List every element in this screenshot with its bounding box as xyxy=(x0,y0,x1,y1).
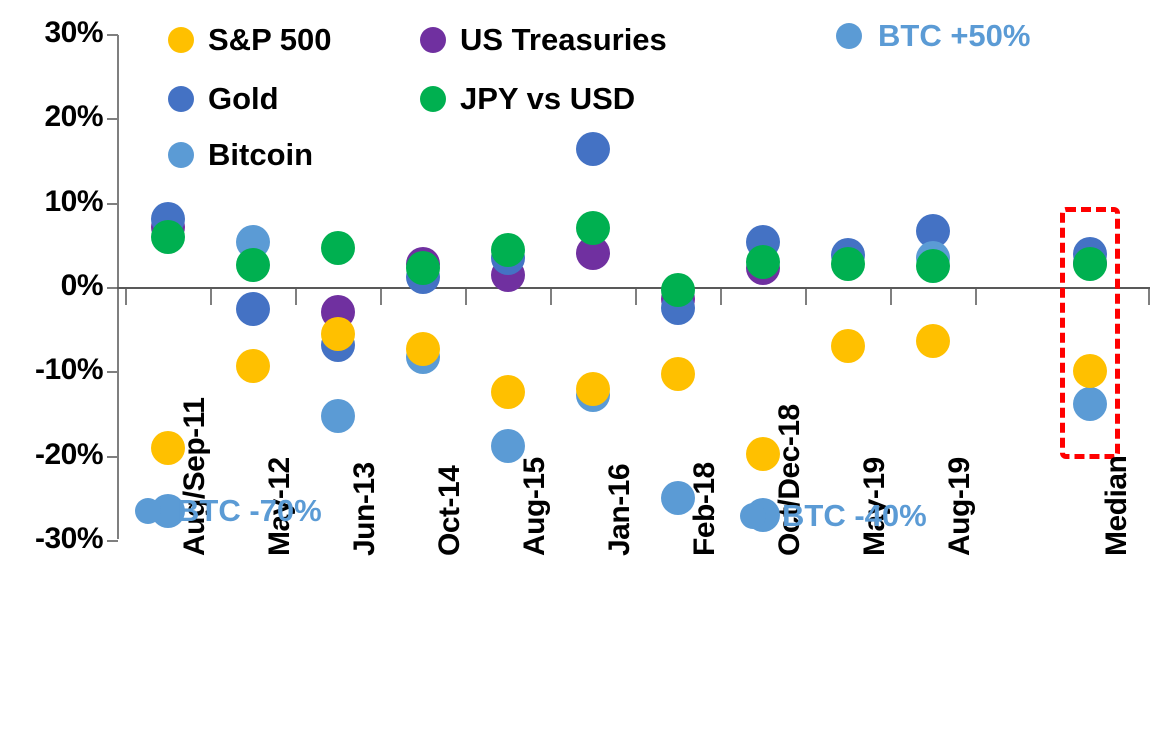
legend-item-gold[interactable]: Gold xyxy=(168,83,279,114)
data-point xyxy=(746,245,780,279)
data-point xyxy=(406,332,440,366)
data-point xyxy=(1073,247,1107,281)
data-point xyxy=(661,357,695,391)
x-axis-label: Oct-14 xyxy=(435,466,465,556)
bitcoin-dot-icon xyxy=(135,498,161,524)
data-point xyxy=(1073,354,1107,388)
data-point xyxy=(576,132,610,166)
x-axis-label: Feb-18 xyxy=(690,462,720,556)
data-point xyxy=(916,249,950,283)
annotation-btc-down-70-label: BTC -70% xyxy=(177,495,322,526)
x-axis-label: Jan-16 xyxy=(605,464,635,556)
legend-swatch-dot-icon xyxy=(168,27,194,53)
legend-item-label: Gold xyxy=(208,83,279,114)
data-point xyxy=(916,324,950,358)
bitcoin-dot-icon xyxy=(836,23,862,49)
bitcoin-dot-icon xyxy=(740,503,766,529)
data-point xyxy=(1073,387,1107,421)
legend-swatch-dot-icon xyxy=(420,27,446,53)
data-point xyxy=(321,399,355,433)
annotation-btc-down-70: BTC -70% xyxy=(135,495,322,526)
legend-item-us-treasuries[interactable]: US Treasuries xyxy=(420,24,667,55)
data-point xyxy=(151,220,185,254)
annotation-btc-up: BTC +50% xyxy=(836,20,1030,51)
annotation-btc-up-label: BTC +50% xyxy=(878,20,1030,51)
x-axis-label: Aug-19 xyxy=(945,457,975,556)
x-axis-label: Aug/Sep-11 xyxy=(180,398,210,556)
data-point xyxy=(491,375,525,409)
legend-item-label: S&P 500 xyxy=(208,24,332,55)
legend-item-label: Bitcoin xyxy=(208,139,313,170)
data-point xyxy=(491,233,525,267)
data-point xyxy=(321,231,355,265)
legend-swatch-dot-icon xyxy=(168,86,194,112)
data-point xyxy=(236,349,270,383)
data-point xyxy=(831,329,865,363)
legend-item-label: US Treasuries xyxy=(460,24,667,55)
legend-item-label: JPY vs USD xyxy=(460,83,635,114)
legend-item-jpy-vs-usd[interactable]: JPY vs USD xyxy=(420,83,635,114)
data-point xyxy=(576,372,610,406)
legend-swatch-dot-icon xyxy=(420,86,446,112)
data-point xyxy=(236,292,270,326)
annotation-btc-down-40: BTC -40% xyxy=(740,500,927,531)
x-axis-label: Jun-13 xyxy=(350,462,380,556)
legend-swatch-dot-icon xyxy=(168,142,194,168)
data-point xyxy=(831,247,865,281)
annotation-btc-down-40-label: BTC -40% xyxy=(782,500,927,531)
x-axis-label: Median xyxy=(1102,456,1132,556)
scatter-chart: 30%20%10%0%-10%-20%-30% Aug/Sep-11May-12… xyxy=(0,0,1151,739)
data-point xyxy=(576,211,610,245)
legend-item-s-p-500[interactable]: S&P 500 xyxy=(168,24,332,55)
x-axis-label: Aug-15 xyxy=(520,457,550,556)
data-point xyxy=(236,248,270,282)
data-point xyxy=(406,251,440,285)
legend-item-bitcoin[interactable]: Bitcoin xyxy=(168,139,313,170)
x-axis-label: Oct/Dec-18 xyxy=(775,404,805,556)
data-point xyxy=(661,273,695,307)
